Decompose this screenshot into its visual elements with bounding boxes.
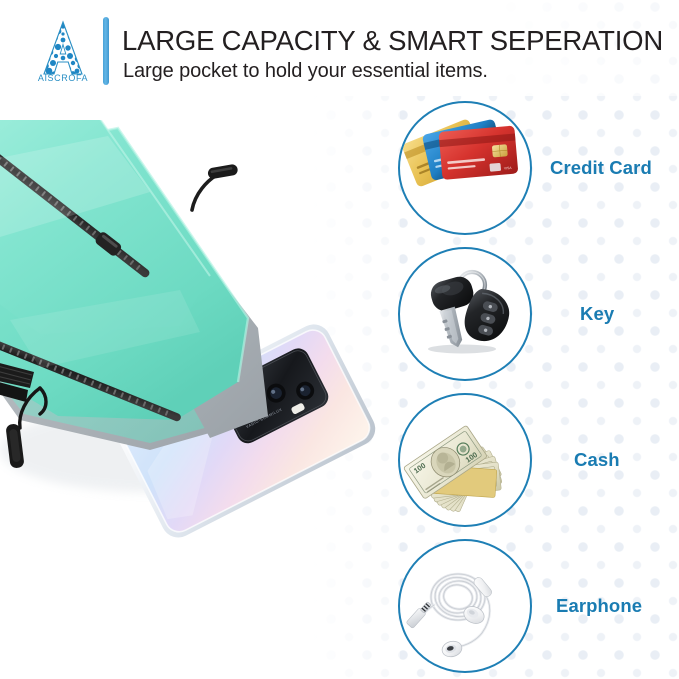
product-photo-waist-bag: LEICA VARIO-SUMMILUX <box>0 120 400 560</box>
feature-label: Key <box>580 303 614 325</box>
earphones-icon <box>398 539 532 673</box>
brand-name: AISCROFA <box>30 73 96 83</box>
credit-cards-icon: VISA <box>398 101 532 235</box>
feature-label: Cash <box>574 449 620 471</box>
header: AISCROFA LARGE CAPACITY & SMART SEPERATI… <box>0 0 679 96</box>
feature-credit-card: VISA Credit Card <box>398 101 679 246</box>
infographic-page: AISCROFA LARGE CAPACITY & SMART SEPERATI… <box>0 0 679 679</box>
svg-text:VISA: VISA <box>504 166 513 171</box>
feature-label: Earphone <box>556 595 642 617</box>
car-key-icon <box>398 247 532 381</box>
page-title: LARGE CAPACITY & SMART SEPERATION <box>122 25 663 57</box>
feature-label: Credit Card <box>550 157 652 179</box>
header-divider <box>103 17 109 85</box>
feature-earphone: Earphone <box>398 539 679 679</box>
cash-banknotes-icon: 100 100 <box>398 393 532 527</box>
feature-key: Key <box>398 247 679 392</box>
feature-cash: 100 100 Cash <box>398 393 679 538</box>
page-subtitle: Large pocket to hold your essential item… <box>123 59 488 83</box>
